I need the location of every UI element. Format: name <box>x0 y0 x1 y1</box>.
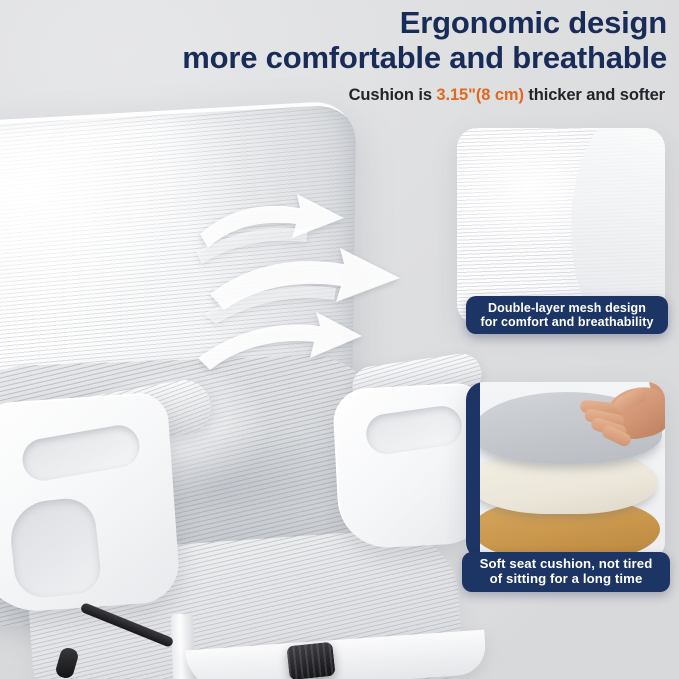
callout-cushion-line1: Soft seat cushion, not tired <box>466 557 666 572</box>
subheadline-suffix: thicker and softer <box>524 86 665 104</box>
callout-badge-mesh: Double-layer mesh design for comfort and… <box>466 296 668 334</box>
chair-tilt-knob <box>286 642 335 679</box>
hand-pressing-cushion <box>578 382 665 452</box>
callout-mesh-line2: for comfort and breathability <box>470 315 664 329</box>
headline-line2: more comfortable and breathable <box>27 41 667 76</box>
chair-armrest-left-cutout-lower <box>7 496 103 600</box>
callout-cushion-line2: of sitting for a long time <box>466 572 666 587</box>
inset-cushion-layers <box>466 382 665 560</box>
subheadline-accent-measurement: 3.15"(8 cm) <box>436 86 523 104</box>
inset-mesh-edge-curve <box>571 128 665 324</box>
subheadline: Cushion is 3.15"(8 cm) thicker and softe… <box>25 86 665 105</box>
inset-mesh-closeup <box>457 128 665 324</box>
headline-line1: Ergonomic design <box>400 5 667 40</box>
callout-mesh-line1: Double-layer mesh design <box>470 301 664 315</box>
inset-cushion-blue-edge <box>466 382 480 560</box>
callout-badge-cushion: Soft seat cushion, not tired of sitting … <box>462 552 670 592</box>
headline: Ergonomic design more comfortable and br… <box>27 6 667 75</box>
subheadline-prefix: Cushion is <box>349 86 437 104</box>
product-banner: Double-layer mesh design for comfort and… <box>0 0 679 679</box>
